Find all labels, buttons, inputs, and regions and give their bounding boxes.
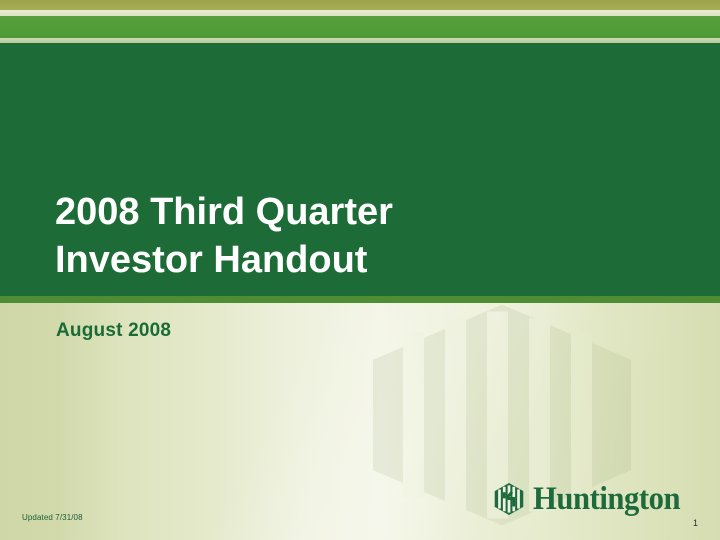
- huntington-hexagon-icon: [492, 482, 526, 516]
- band-bright-green: [0, 16, 720, 38]
- slide-subtitle: August 2008: [56, 320, 171, 342]
- huntington-wordmark: Huntington: [533, 482, 680, 516]
- slide-title: 2008 Third Quarter Investor Handout: [55, 188, 615, 284]
- page-number: 1: [693, 518, 698, 528]
- presentation-slide: 2008 Third Quarter Investor Handout Augu…: [0, 0, 720, 540]
- updated-date-note: Updated 7/31/08: [22, 513, 83, 522]
- band-olive: [0, 0, 720, 10]
- huntington-logo: Huntington: [492, 481, 691, 517]
- band-mid-green-divider: [0, 296, 720, 303]
